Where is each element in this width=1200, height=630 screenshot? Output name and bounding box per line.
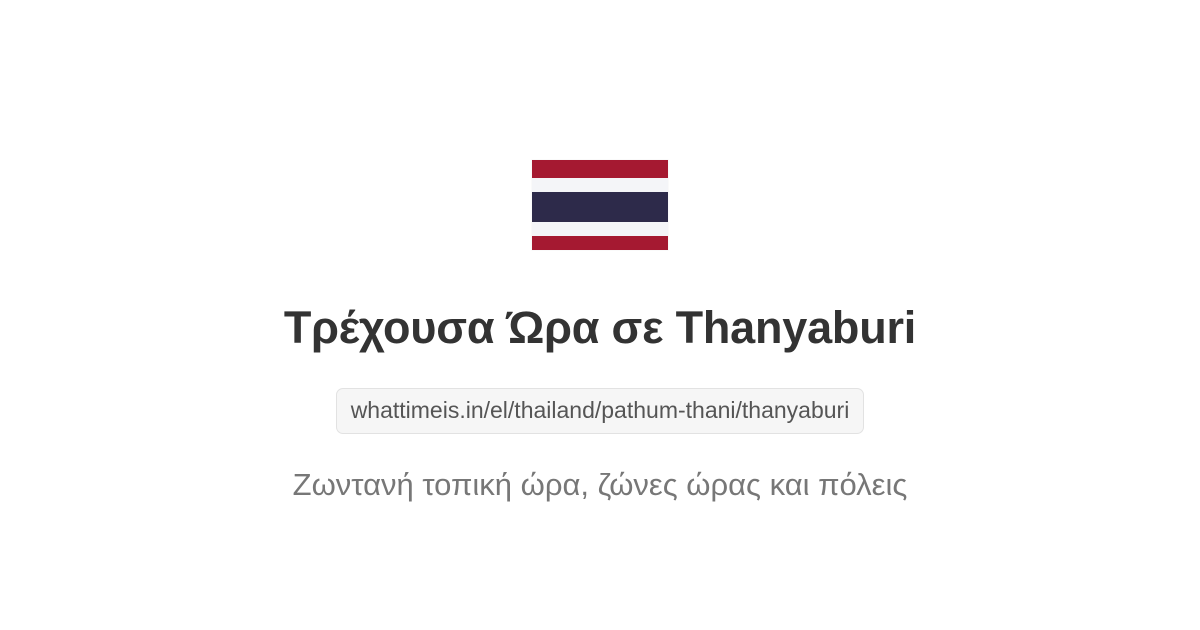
flag-container: [532, 160, 668, 250]
flag-stripe-red-bottom: [532, 236, 668, 250]
flag-stripe-white-upper: [532, 178, 668, 192]
thailand-flag-icon: [532, 160, 668, 250]
url-text: whattimeis.in/el/thailand/pathum-thani/t…: [351, 399, 850, 422]
flag-stripe-white-lower: [532, 222, 668, 236]
og-preview-card: Τρέχουσα Ώρα σε Thanyaburi whattimeis.in…: [0, 0, 1200, 630]
url-chip: whattimeis.in/el/thailand/pathum-thani/t…: [336, 388, 865, 434]
page-title: Τρέχουσα Ώρα σε Thanyaburi: [284, 302, 916, 354]
flag-stripe-red-top: [532, 160, 668, 178]
flag-stripe-blue-middle: [532, 192, 668, 222]
page-subtitle: Ζωντανή τοπική ώρα, ζώνες ώρας και πόλει…: [293, 466, 908, 503]
